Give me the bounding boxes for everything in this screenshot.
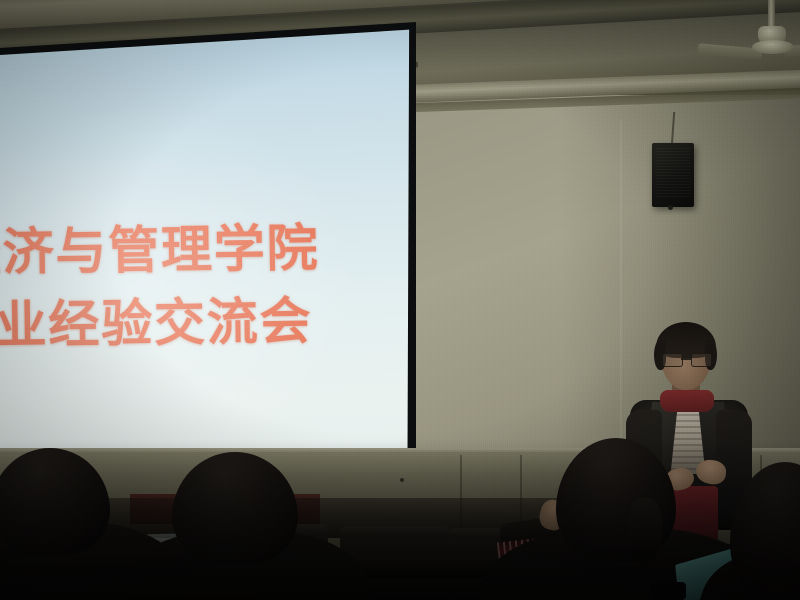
speaker-mount-pin bbox=[668, 205, 673, 210]
lecture-hall-photo: 经济与管理学院 就业经验交流会 bbox=[0, 0, 800, 600]
projection-screen: 经济与管理学院 就业经验交流会 bbox=[0, 22, 416, 502]
speaker-grille bbox=[656, 148, 690, 199]
fan-hub bbox=[752, 40, 794, 54]
glasses-lens-right bbox=[691, 353, 712, 367]
glasses-lens-left bbox=[662, 353, 683, 367]
chair-top-rail bbox=[340, 526, 450, 538]
glasses-icon bbox=[662, 353, 710, 365]
audience-ponytail bbox=[628, 498, 662, 564]
slide-line-2: 就业经验交流会 bbox=[0, 279, 313, 358]
glasses-bridge bbox=[681, 358, 691, 360]
ceiling-fan-icon bbox=[744, 0, 800, 60]
slide-line-1: 经济与管理学院 bbox=[0, 206, 320, 285]
slide-content: 经济与管理学院 就业经验交流会 bbox=[0, 19, 419, 505]
presenter-scarf bbox=[660, 390, 714, 412]
wall-fixture-dot bbox=[400, 478, 404, 482]
dark-object bbox=[650, 582, 686, 600]
wall-speaker-icon bbox=[652, 143, 694, 207]
